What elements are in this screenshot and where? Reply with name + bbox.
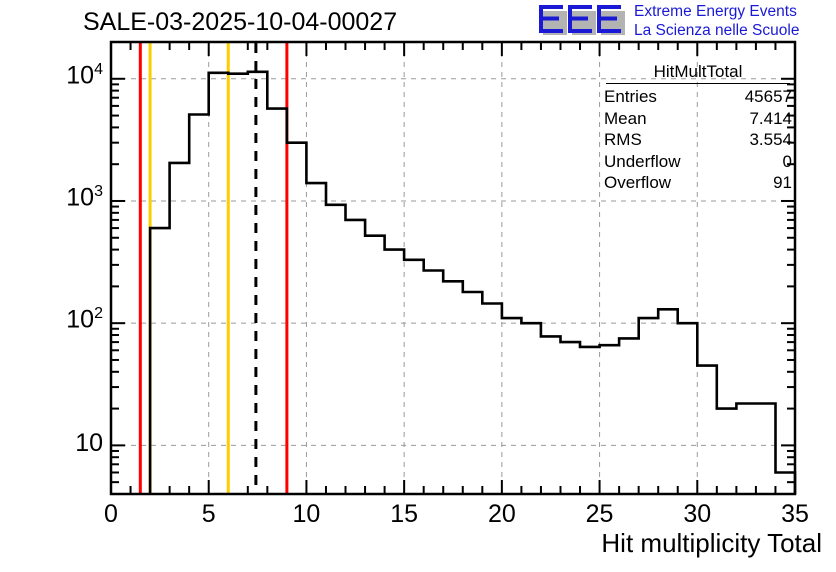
annotation-lines [140,43,287,493]
stats-row-key: RMS [604,129,642,151]
stats-row-key: Overflow [604,172,671,194]
x-axis-title: Hit multiplicity Total [601,528,822,559]
x-tick-label: 10 [266,500,346,529]
stats-row-key: Mean [604,108,647,130]
stats-row-value: 3.554 [749,129,792,151]
stats-box-rows: Entries45657Mean7.414RMS3.554Underflow0O… [600,86,796,194]
x-tick-label: 5 [169,500,249,529]
stats-row-value: 0 [783,151,792,173]
stats-box-title: HitMultTotal [606,62,790,84]
stats-box: HitMultTotal Entries45657Mean7.414RMS3.5… [600,62,796,194]
stats-row-value: 7.414 [749,108,792,130]
x-tick-label: 30 [657,500,737,529]
stats-row: Entries45657 [600,86,796,108]
stats-row: Underflow0 [600,151,796,173]
stats-row: Overflow91 [600,172,796,194]
x-tick-label: 0 [71,500,151,529]
x-tick-label: 25 [560,500,640,529]
stats-row-key: Entries [604,86,657,108]
stats-row-key: Underflow [604,151,681,173]
stats-row-value: 91 [773,172,792,194]
x-tick-label: 20 [462,500,542,529]
y-tick-label: 10 [0,429,103,458]
y-tick-label: 104 [0,61,103,90]
y-tick-label: 102 [0,305,103,334]
x-tick-label: 35 [755,500,835,529]
x-tick-label: 15 [364,500,444,529]
histogram-screenshot: SALE-03-2025-10-04-00027 Extreme Energy … [0,0,836,572]
stats-row-value: 45657 [745,86,792,108]
y-tick-label: 103 [0,183,103,212]
stats-row: RMS3.554 [600,129,796,151]
stats-row: Mean7.414 [600,108,796,130]
